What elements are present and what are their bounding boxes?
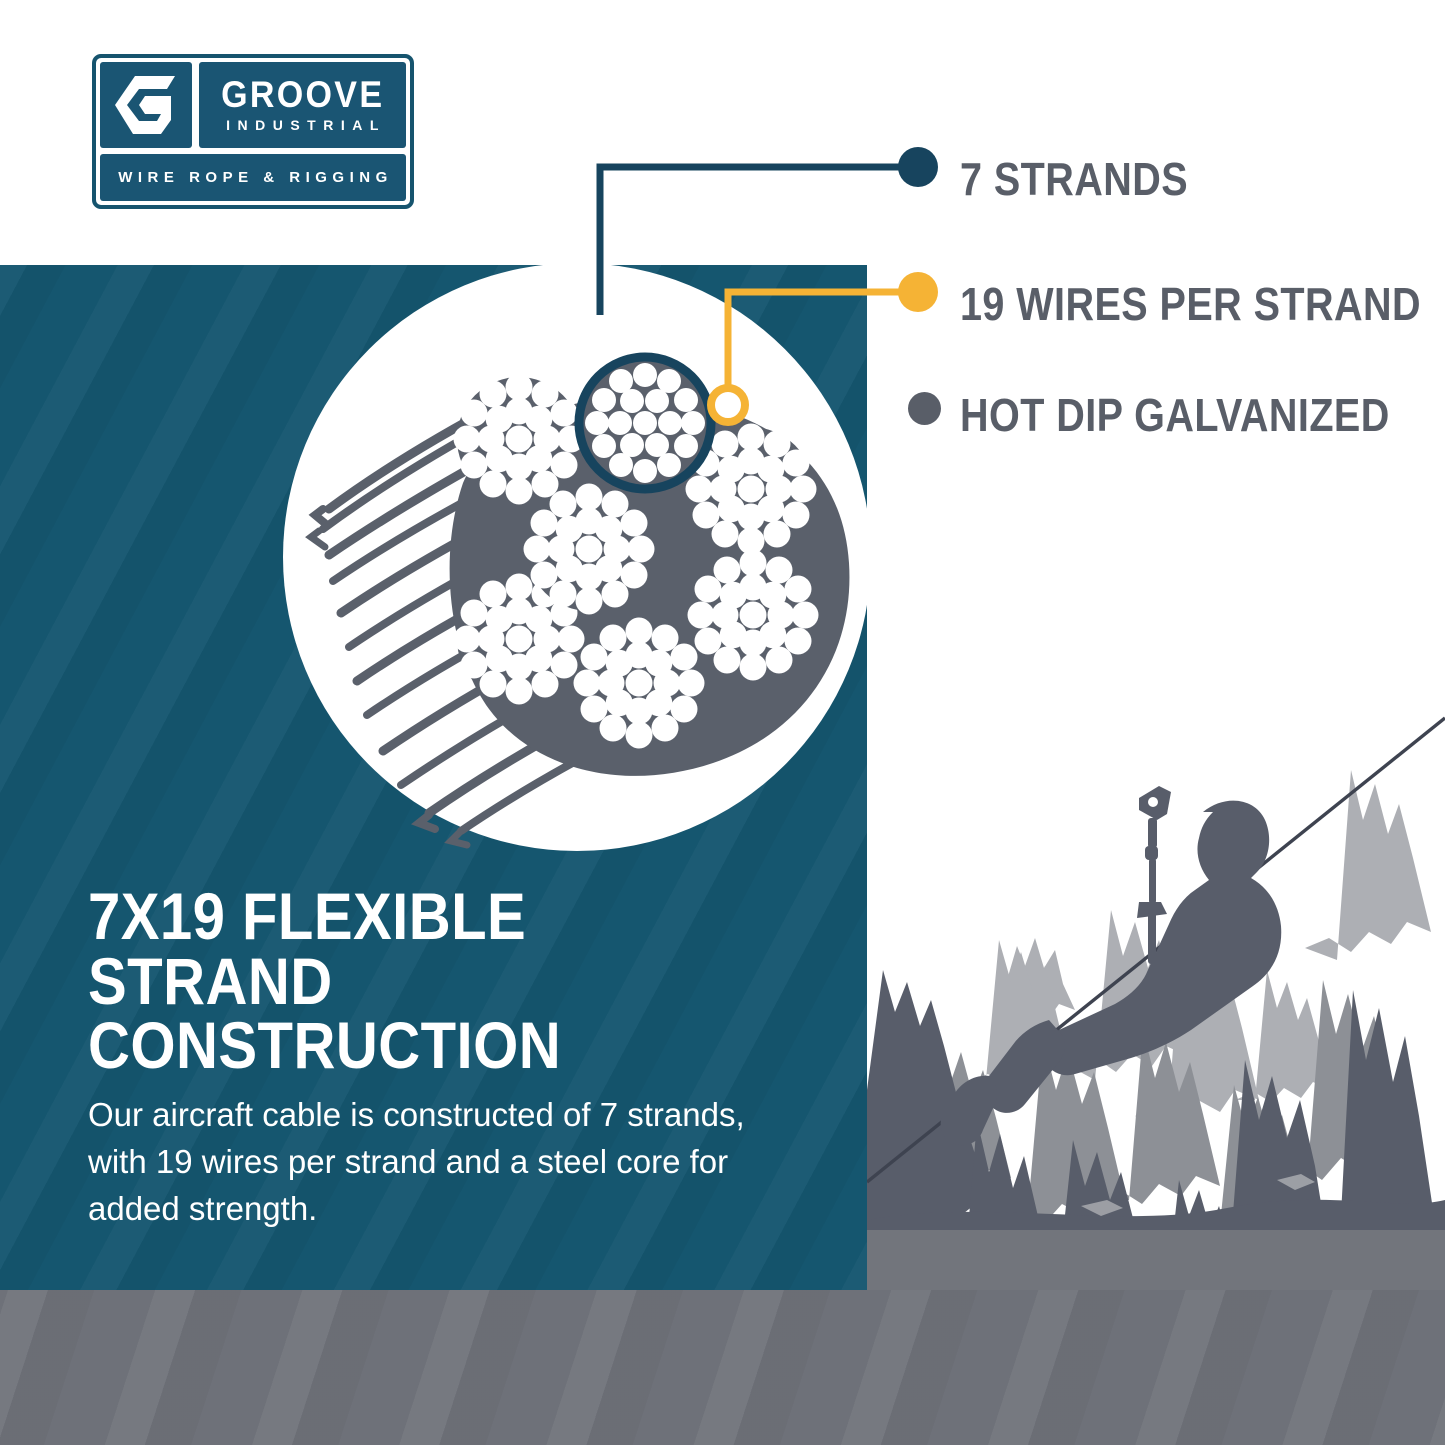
callout-label-wires-per-strand: 19 WIRES PER STRAND bbox=[960, 277, 1421, 331]
groove-g-hexagon-icon bbox=[100, 62, 192, 148]
callout-dot-gray bbox=[908, 392, 941, 425]
logo-wordmark: GROOVE INDUSTRIAL bbox=[199, 62, 406, 148]
logo-tagline: WIRE ROPE & RIGGING bbox=[118, 169, 393, 186]
logo-top-row: GROOVE INDUSTRIAL bbox=[100, 62, 406, 148]
scene-bottom-filler bbox=[867, 1230, 1445, 1292]
bottom-bar-stripe-texture bbox=[0, 1290, 1445, 1445]
callout-dot-orange bbox=[898, 272, 938, 312]
hero-body-text: Our aircraft cable is constructed of 7 s… bbox=[88, 1092, 788, 1233]
logo-name-line1: GROOVE bbox=[221, 77, 384, 112]
bottom-bar bbox=[0, 1290, 1445, 1445]
page-title: 7X19 FLEXIBLE STRAND CONSTRUCTION bbox=[88, 884, 757, 1078]
headline-line-2: STRAND CONSTRUCTION bbox=[88, 949, 757, 1078]
logo-inner: GROOVE INDUSTRIAL WIRE ROPE & RIGGING bbox=[100, 62, 406, 201]
zipline-rider-over-pine-forest-illustration bbox=[867, 660, 1445, 1290]
callout-dot-navy bbox=[898, 147, 938, 187]
callout-label-strands: 7 STRANDS bbox=[960, 152, 1188, 206]
logo-tagline-band: WIRE ROPE & RIGGING bbox=[100, 154, 406, 201]
orange-marker-ring-icon bbox=[711, 388, 745, 422]
logo-name-line2: INDUSTRIAL bbox=[226, 117, 386, 134]
infographic-canvas: GROOVE INDUSTRIAL WIRE ROPE & RIGGING bbox=[0, 0, 1445, 1445]
headline-line-1: 7X19 FLEXIBLE bbox=[88, 884, 757, 949]
brand-logo: GROOVE INDUSTRIAL WIRE ROPE & RIGGING bbox=[92, 54, 414, 209]
callout-label-galvanized: HOT DIP GALVANIZED bbox=[960, 388, 1390, 442]
